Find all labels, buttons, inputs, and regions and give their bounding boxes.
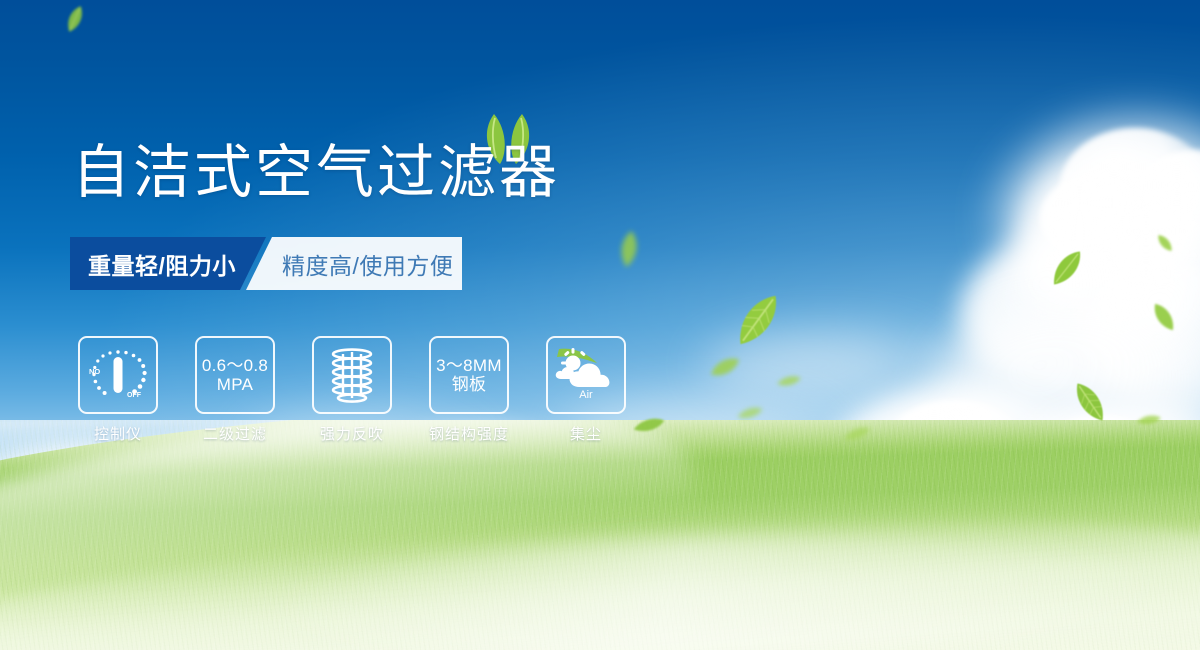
product-hero-banner: 自洁式空气过滤器 重量轻/阻力小 精度高/使用方便 bbox=[0, 0, 1200, 650]
feature-item-control-dial[interactable]: NO OFF 控制仪 bbox=[78, 336, 158, 444]
feature-icon-box: NO OFF bbox=[78, 336, 158, 414]
feature-list: NO OFF 控制仪 0.6～0.8 MPA 二级过滤 bbox=[78, 336, 626, 444]
svg-text:NO: NO bbox=[89, 367, 100, 376]
coil-spring-icon bbox=[323, 345, 381, 405]
feature-label: 二级过滤 bbox=[195, 423, 275, 444]
pressure-text-icon: 0.6～0.8 MPA bbox=[202, 356, 268, 394]
feature-icon-box: 3～8MM 钢板 bbox=[429, 336, 509, 414]
feature-item-pressure[interactable]: 0.6～0.8 MPA 二级过滤 bbox=[195, 336, 275, 444]
feature-icon-box bbox=[312, 336, 392, 414]
steel-plate-text-icon: 3～8MM 钢板 bbox=[436, 356, 502, 394]
feature-icon-box: Air bbox=[546, 336, 626, 414]
control-dial-icon: NO OFF bbox=[85, 344, 151, 406]
feature-label: 集尘 bbox=[546, 423, 626, 444]
feature-item-blowback[interactable]: 强力反吹 bbox=[312, 336, 392, 444]
subtitle-left-text: 重量轻/阻力小 bbox=[88, 237, 236, 290]
page-title: 自洁式空气过滤器 bbox=[72, 144, 560, 202]
feature-icon-box: 0.6～0.8 MPA bbox=[195, 336, 275, 414]
subtitle-bar: 重量轻/阻力小 精度高/使用方便 bbox=[70, 237, 462, 290]
feature-label: 控制仪 bbox=[78, 423, 158, 444]
svg-text:OFF: OFF bbox=[127, 392, 142, 399]
feature-item-steel-plate[interactable]: 3～8MM 钢板 钢结构强度 bbox=[429, 336, 509, 444]
subtitle-right-text: 精度高/使用方便 bbox=[282, 237, 453, 290]
feature-label: 钢结构强度 bbox=[429, 423, 509, 444]
cloud-air-icon: Air bbox=[553, 343, 619, 403]
feature-item-dust-collection[interactable]: Air 集尘 bbox=[546, 336, 626, 444]
feature-label: 强力反吹 bbox=[312, 423, 392, 444]
air-label: Air bbox=[579, 389, 593, 401]
